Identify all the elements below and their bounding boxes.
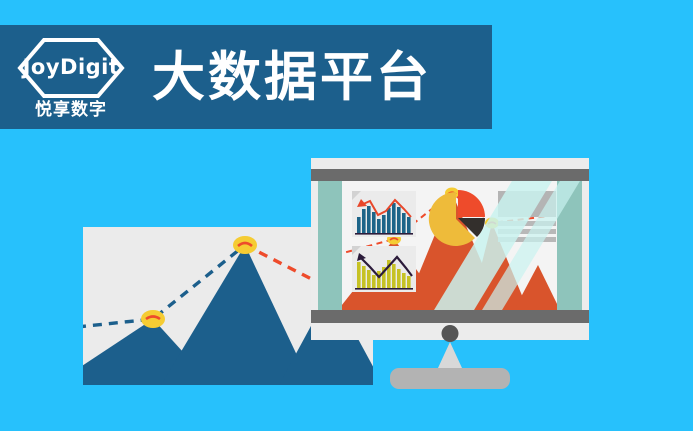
illustration-canvas: JoyDigit 悦享数字 大数据平台	[0, 0, 693, 431]
monitor-screen	[318, 181, 582, 310]
monitor-bottom-bezel	[311, 310, 589, 323]
monitor-body	[311, 158, 589, 340]
axis-line	[355, 288, 413, 290]
dashboard-content	[342, 181, 557, 310]
screen-band-left	[318, 181, 342, 310]
doc-text-line	[498, 237, 556, 242]
screen-band-right	[557, 181, 582, 310]
bar-chart-card-blue	[352, 191, 416, 237]
monitor-stand-base	[390, 368, 510, 389]
monitor-stand-neck	[438, 342, 462, 368]
doc-text-line	[498, 221, 556, 226]
axis-line	[355, 233, 413, 235]
brand-logo: JoyDigit 悦享数字	[12, 27, 130, 127]
desktop-monitor	[311, 158, 589, 388]
power-indicator	[442, 325, 459, 342]
doc-image-block	[498, 191, 556, 217]
pie-slice-red	[458, 190, 485, 217]
header-banner: JoyDigit 悦享数字 大数据平台	[0, 25, 492, 129]
logo-subtitle: 悦享数字	[35, 101, 107, 118]
pie-chart	[428, 189, 486, 247]
card-fold-corner	[352, 191, 361, 200]
page-title: 大数据平台	[152, 51, 432, 104]
bar-chart-card-olive	[352, 246, 416, 292]
card-fold-corner	[352, 246, 361, 255]
monitor-top-bezel	[311, 169, 589, 181]
doc-text-line	[498, 229, 556, 234]
hexagon-icon: JoyDigit	[17, 37, 125, 99]
document-placeholder	[498, 191, 556, 239]
logo-wordmark: JoyDigit	[23, 57, 120, 78]
